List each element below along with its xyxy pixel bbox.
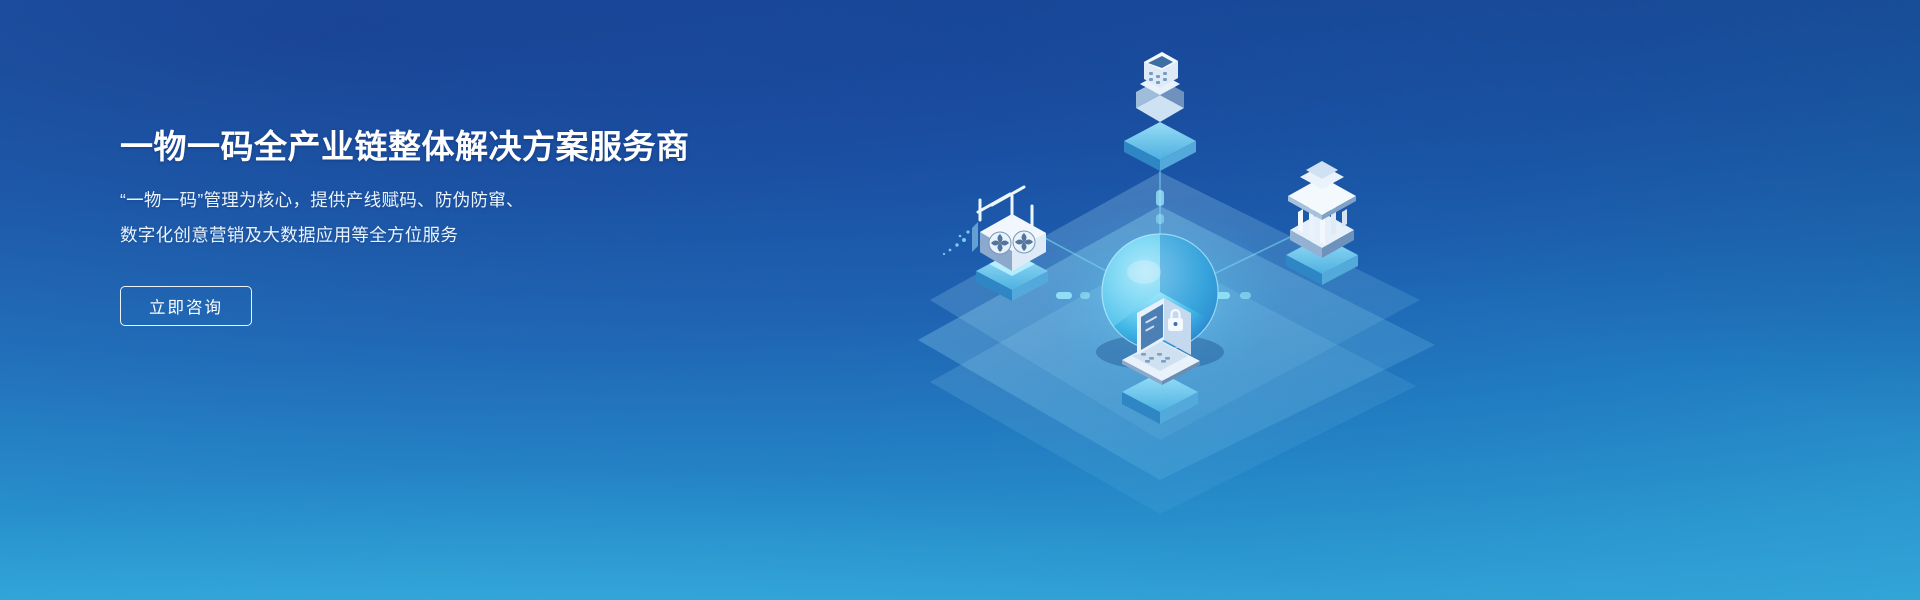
hero-copy: 一物一码全产业链整体解决方案服务商 “一物一码”管理为核心，提供产线赋码、防伪防… [120,126,820,326]
hero-illustration [860,0,1500,600]
pos-terminal-icon [1136,52,1184,122]
node-pos-terminal [1124,52,1196,171]
subtitle-line-1: “一物一码”管理为核心，提供产线赋码、防伪防窜、 [120,183,820,218]
bank-building-icon [1288,161,1356,258]
node-bank-building [1286,161,1358,285]
hero-banner: 一物一码全产业链整体解决方案服务商 “一物一码”管理为核心，提供产线赋码、防伪防… [0,0,1920,600]
consult-now-button[interactable]: 立即咨询 [120,286,252,326]
node-gpu-server [943,187,1048,301]
page-title: 一物一码全产业链整体解决方案服务商 [120,126,820,167]
server-fan-icon [943,187,1046,271]
subtitle-line-2: 数字化创意营销及大数据应用等全方位服务 [120,218,820,253]
pedestal-top [1124,122,1196,171]
